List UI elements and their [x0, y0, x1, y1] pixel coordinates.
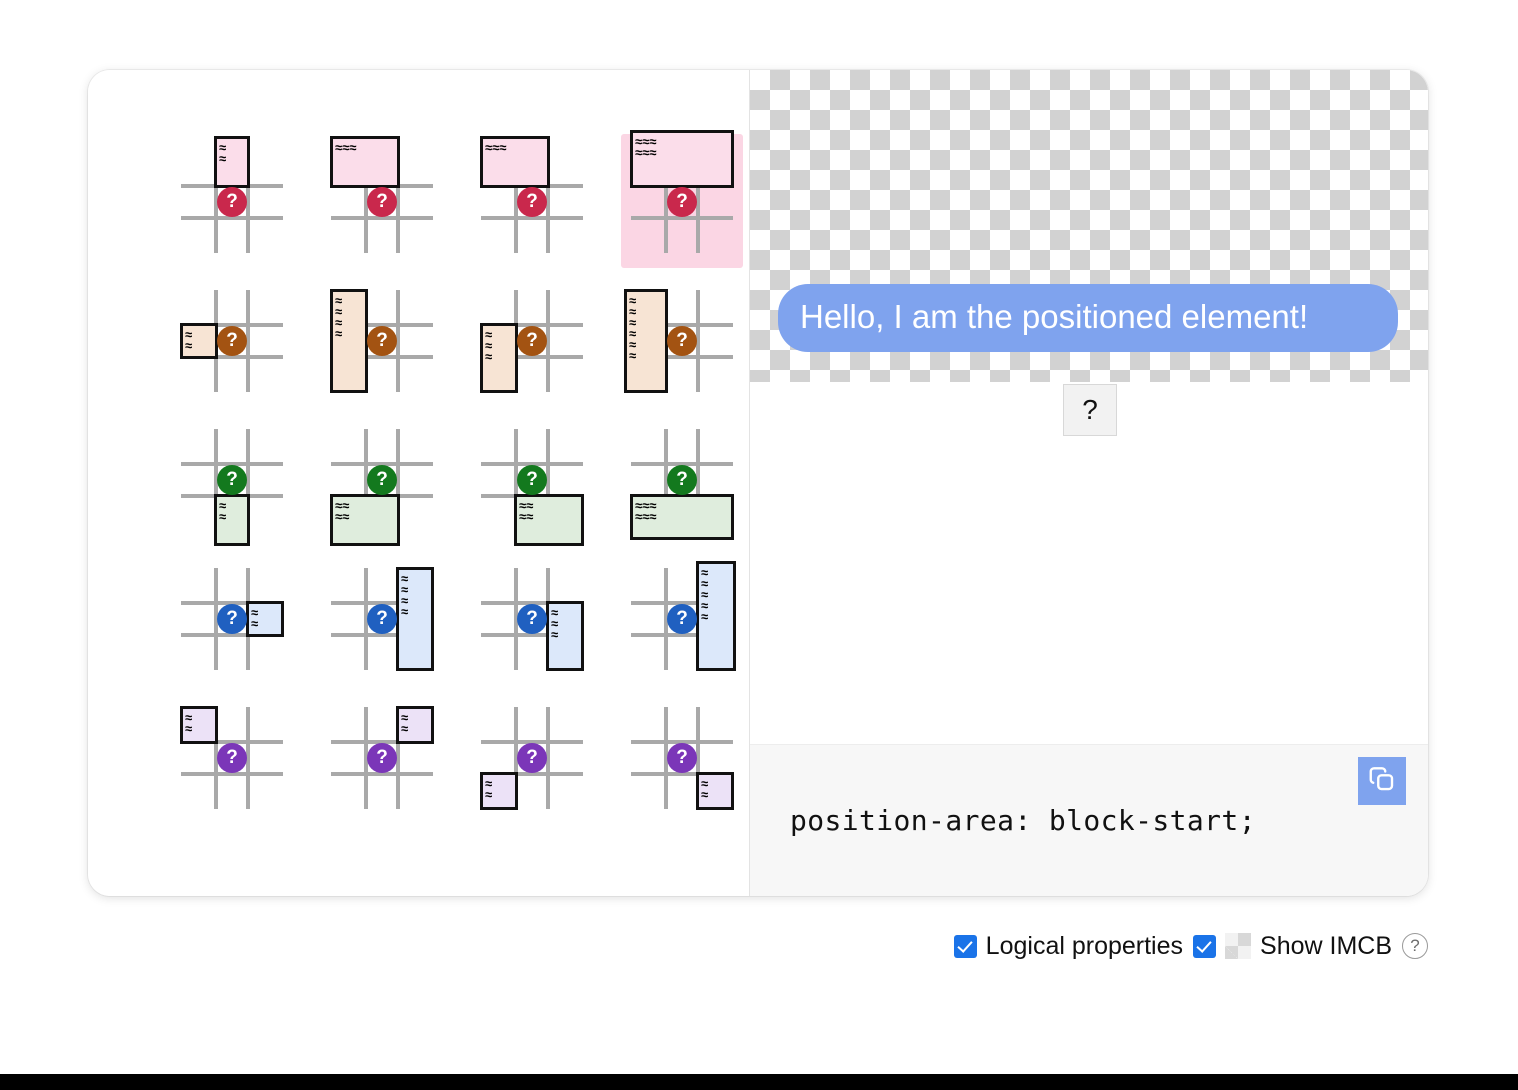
code-block: position-area: block-start; — [750, 744, 1428, 896]
position-area-option[interactable]: ≈≈≈? — [466, 549, 598, 688]
anchor-badge: ? — [667, 743, 697, 773]
positioned-box-preview: ≈≈ — [480, 772, 518, 810]
positioned-element-bubble: Hello, I am the positioned element! — [778, 284, 1398, 352]
text-squiggle-lines: ≈≈≈ — [485, 142, 506, 153]
positioned-box-preview: ≈≈≈≈ — [514, 494, 584, 546]
positioned-box-preview: ≈≈≈ — [480, 323, 518, 393]
anchor-badge: ? — [367, 187, 397, 217]
bottom-strip — [0, 1074, 1518, 1090]
positioned-box-preview: ≈≈≈≈ — [330, 494, 400, 546]
position-area-option[interactable]: ≈≈≈≈≈≈? — [616, 410, 748, 549]
text-squiggle-lines: ≈≈≈≈ — [401, 573, 408, 617]
anchor-badge: ? — [517, 187, 547, 217]
preview-spacer — [750, 382, 1428, 744]
help-icon[interactable]: ? — [1402, 933, 1428, 959]
anchor-badge: ? — [667, 326, 697, 356]
show-imcb-label: Show IMCB — [1260, 932, 1392, 961]
positioned-box-preview: ≈≈ — [214, 136, 250, 188]
positioned-box-preview: ≈≈≈ — [480, 136, 550, 188]
positioned-box-preview: ≈≈ — [180, 323, 218, 359]
positioned-box-preview: ≈≈≈≈≈≈ — [624, 289, 668, 393]
position-area-option-matrix[interactable]: ≈≈?≈≈≈?≈≈≈?≈≈≈≈≈≈?≈≈?≈≈≈≈?≈≈≈?≈≈≈≈≈≈?≈≈?… — [166, 132, 748, 827]
anchor-badge: ? — [217, 604, 247, 634]
anchor-badge: ? — [367, 604, 397, 634]
anchor-badge: ? — [367, 326, 397, 356]
positioned-element-preview: Hello, I am the positioned element! ? — [750, 70, 1428, 382]
position-area-option[interactable]: ≈≈? — [166, 271, 298, 410]
text-squiggle-lines: ≈≈ — [701, 778, 708, 800]
page-root: ≈≈?≈≈≈?≈≈≈?≈≈≈≈≈≈?≈≈?≈≈≈≈?≈≈≈?≈≈≈≈≈≈?≈≈?… — [0, 0, 1518, 1090]
positioned-box-preview: ≈≈ — [396, 706, 434, 744]
logical-properties-control[interactable]: Logical properties — [954, 932, 1183, 961]
text-squiggle-lines: ≈≈ — [219, 142, 226, 164]
show-imcb-control[interactable]: Show IMCB — [1193, 932, 1392, 961]
anchor-badge: ? — [367, 743, 397, 773]
anchor-badge: ? — [217, 465, 247, 495]
positioned-box-preview: ≈≈≈ — [546, 601, 584, 671]
positioned-box-preview: ≈≈ — [180, 706, 218, 744]
position-area-option[interactable]: ≈≈≈≈≈≈? — [616, 132, 748, 271]
position-area-option[interactable]: ≈≈? — [166, 410, 298, 549]
position-area-option[interactable]: ≈≈≈≈≈? — [616, 549, 748, 688]
position-area-option[interactable]: ≈≈? — [166, 132, 298, 271]
text-squiggle-lines: ≈≈≈ — [485, 329, 492, 362]
positioned-box-preview: ≈≈≈ — [330, 136, 400, 188]
position-area-option[interactable]: ≈≈≈? — [466, 132, 598, 271]
text-squiggle-lines: ≈≈≈ — [335, 142, 356, 153]
anchor-badge: ? — [667, 604, 697, 634]
css-declaration-text: position-area: block-start; — [750, 804, 1256, 837]
position-area-option[interactable]: ≈≈≈? — [316, 132, 448, 271]
positioned-box-preview: ≈≈≈≈≈ — [696, 561, 736, 671]
text-squiggle-lines: ≈≈ — [251, 607, 258, 629]
position-area-option[interactable]: ≈≈? — [166, 688, 298, 827]
position-area-option[interactable]: ≈≈≈≈? — [466, 410, 598, 549]
anchor-element-box: ? — [1063, 384, 1117, 436]
text-squiggle-lines: ≈≈≈≈≈≈ — [635, 136, 656, 158]
position-area-option[interactable]: ≈≈≈? — [466, 271, 598, 410]
positioned-box-preview: ≈≈ — [696, 772, 734, 810]
positioned-box-preview: ≈≈≈≈ — [396, 567, 434, 671]
text-squiggle-lines: ≈≈≈≈ — [335, 295, 342, 339]
anchor-badge: ? — [517, 604, 547, 634]
position-area-option-matrix-pane: ≈≈?≈≈≈?≈≈≈?≈≈≈≈≈≈?≈≈?≈≈≈≈?≈≈≈?≈≈≈≈≈≈?≈≈?… — [88, 70, 750, 896]
position-area-card: ≈≈?≈≈≈?≈≈≈?≈≈≈≈≈≈?≈≈?≈≈≈≈?≈≈≈?≈≈≈≈≈≈?≈≈?… — [88, 70, 1428, 896]
anchor-badge: ? — [217, 743, 247, 773]
positioned-box-preview: ≈≈≈≈ — [330, 289, 368, 393]
anchor-badge: ? — [517, 743, 547, 773]
position-area-option[interactable]: ≈≈≈≈? — [316, 271, 448, 410]
position-area-option[interactable]: ≈≈? — [316, 688, 448, 827]
positioned-box-preview: ≈≈ — [246, 601, 284, 637]
position-area-option[interactable]: ≈≈? — [466, 688, 598, 827]
anchor-badge: ? — [517, 465, 547, 495]
anchor-badge: ? — [217, 326, 247, 356]
text-squiggle-lines: ≈≈≈ — [551, 607, 558, 640]
position-area-option[interactable]: ≈≈≈≈? — [316, 410, 448, 549]
position-area-option[interactable]: ≈≈? — [166, 549, 298, 688]
text-squiggle-lines: ≈≈ — [219, 500, 226, 522]
text-squiggle-lines: ≈≈ — [485, 778, 492, 800]
anchor-badge: ? — [667, 465, 697, 495]
copy-button[interactable] — [1358, 757, 1406, 805]
position-area-option[interactable]: ≈≈≈≈? — [316, 549, 448, 688]
preview-pane: Hello, I am the positioned element! ? po… — [750, 70, 1428, 896]
anchor-badge: ? — [217, 187, 247, 217]
position-area-option[interactable]: ≈≈? — [616, 688, 748, 827]
footer-controls: Logical properties Show IMCB ? — [0, 922, 1428, 970]
copy-icon — [1367, 764, 1397, 799]
checkerboard-swatch-icon — [1225, 933, 1251, 959]
text-squiggle-lines: ≈≈ — [185, 712, 192, 734]
text-squiggle-lines: ≈≈ — [185, 329, 192, 351]
position-area-option[interactable]: ≈≈≈≈≈≈? — [616, 271, 748, 410]
positioned-box-preview: ≈≈ — [214, 494, 250, 546]
logical-properties-label: Logical properties — [986, 932, 1183, 961]
logical-properties-checkbox[interactable] — [954, 935, 977, 958]
text-squiggle-lines: ≈≈≈≈ — [519, 500, 533, 522]
anchor-badge: ? — [517, 326, 547, 356]
text-squiggle-lines: ≈≈≈≈≈ — [701, 567, 708, 622]
anchor-badge: ? — [667, 187, 697, 217]
positioned-box-preview: ≈≈≈≈≈≈ — [630, 130, 734, 188]
text-squiggle-lines: ≈≈≈≈≈≈ — [629, 295, 636, 361]
text-squiggle-lines: ≈≈≈≈≈≈ — [635, 500, 656, 522]
positioned-box-preview: ≈≈≈≈≈≈ — [630, 494, 734, 540]
show-imcb-checkbox[interactable] — [1193, 935, 1216, 958]
text-squiggle-lines: ≈≈ — [401, 712, 408, 734]
text-squiggle-lines: ≈≈≈≈ — [335, 500, 349, 522]
anchor-badge: ? — [367, 465, 397, 495]
